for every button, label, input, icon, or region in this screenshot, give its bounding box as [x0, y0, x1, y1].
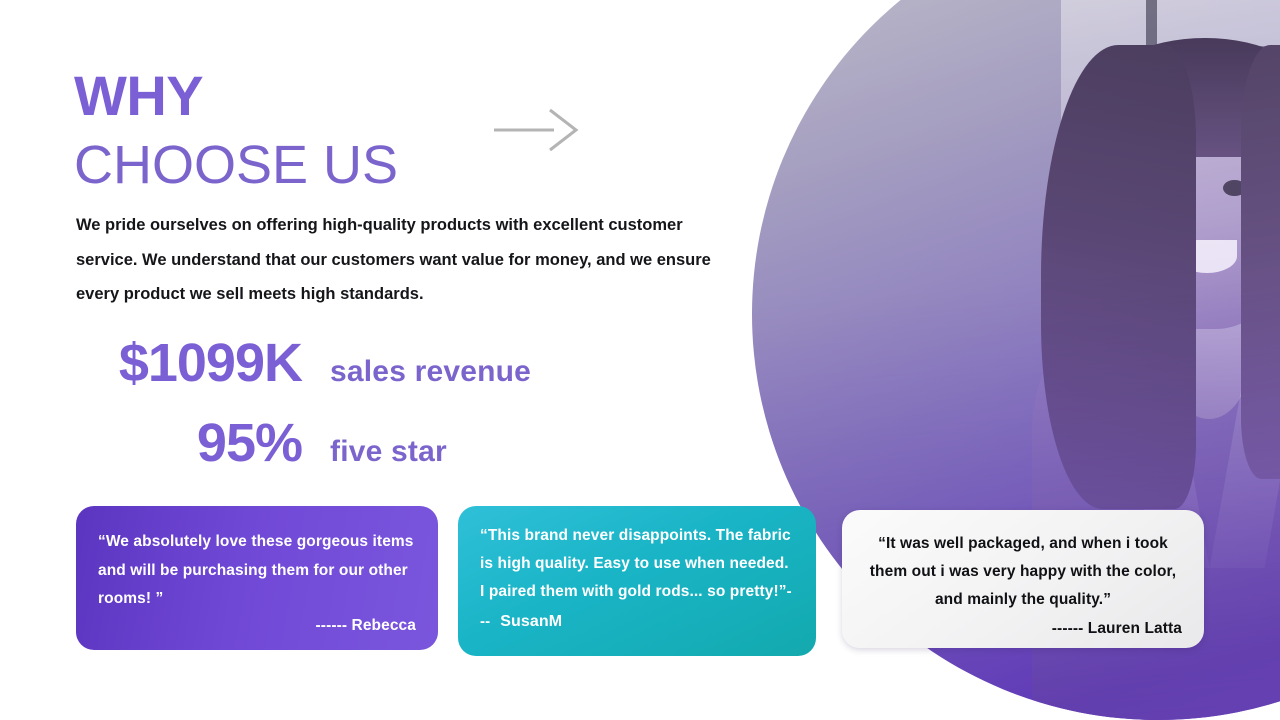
- stat-value-revenue: $1099K: [50, 332, 302, 394]
- stats-group: $1099K sales revenue 95% five star: [50, 332, 730, 474]
- testimonial-card-rebecca: “We absolutely love these gorgeous items…: [76, 506, 438, 650]
- testimonial-card-susanm: “This brand never disappoints. The fabri…: [458, 506, 816, 656]
- testimonial-quote: “This brand never disappoints. The fabri…: [480, 527, 791, 600]
- body-paragraph: We pride ourselves on offering high-qual…: [76, 208, 748, 312]
- stat-row-five-star: 95% five star: [50, 412, 730, 474]
- stat-value-five-star: 95%: [50, 412, 302, 474]
- testimonial-author: SusanM: [500, 613, 562, 630]
- arrow-right-icon: [492, 108, 584, 152]
- stat-label-revenue: sales revenue: [330, 355, 531, 389]
- testimonial-card-lauren-latta: “It was well packaged, and when i took t…: [842, 510, 1204, 648]
- testimonial-quote: “We absolutely love these gorgeous items…: [98, 533, 414, 607]
- stat-label-five-star: five star: [330, 435, 447, 469]
- testimonial-attribution: ------ Lauren Latta: [864, 615, 1182, 643]
- slide-canvas: WHY CHOOSE US We pride ourselves on offe…: [0, 0, 1280, 720]
- testimonial-quote: “It was well packaged, and when i took t…: [870, 535, 1176, 608]
- page-title-line-1: WHY: [74, 68, 203, 124]
- page-title-line-2: CHOOSE US: [74, 138, 398, 192]
- testimonial-attribution: ------ Rebecca: [98, 612, 416, 641]
- stat-row-revenue: $1099K sales revenue: [50, 332, 730, 394]
